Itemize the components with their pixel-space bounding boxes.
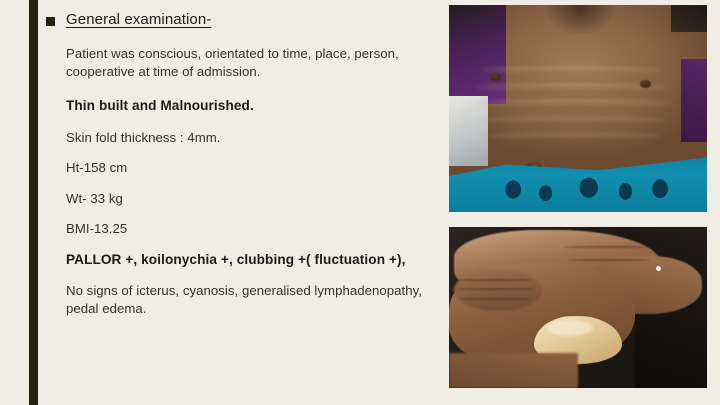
paragraph-pallor-findings: PALLOR +, koilonychia +, clubbing +( flu…	[46, 251, 428, 269]
left-accent-stripe	[29, 0, 38, 405]
clubbing-skin-crease	[459, 279, 531, 281]
page-title: General examination-	[66, 10, 428, 29]
torso-photo-canvas	[449, 5, 707, 212]
clubbing-photo-canvas	[449, 227, 707, 388]
paragraph-build: Thin built and Malnourished.	[46, 97, 428, 115]
clubbing-highlight-dot	[656, 266, 661, 271]
paragraph-negative-findings: No signs of icterus, cyanosis, generalis…	[46, 282, 428, 317]
paragraph-weight: Wt- 33 kg	[46, 190, 428, 208]
slide-canvas: General examination- Patient was conscio…	[0, 0, 720, 405]
heading-bullet-row: General examination-	[46, 10, 428, 29]
torso-neck-shadow	[547, 5, 614, 34]
paragraph-consciousness: Patient was conscious, orientated to tim…	[46, 45, 428, 80]
torso-rib-line	[475, 84, 666, 90]
clubbing-lower-finger	[449, 353, 578, 388]
torso-nipple-right	[640, 80, 651, 88]
content-column: General examination- Patient was conscio…	[46, 10, 428, 400]
torso-purple-cloth-left	[449, 5, 506, 104]
paragraph-skin-fold-thickness: Skin fold thickness : 4mm.	[46, 129, 428, 147]
torso-teal-cloth-pattern	[470, 171, 687, 208]
paragraph-height: Ht-158 cm	[46, 159, 428, 177]
clubbing-skin-crease	[459, 298, 531, 300]
torso-shadow-top-right	[671, 5, 707, 32]
clubbing-photo	[449, 227, 707, 388]
torso-photo	[449, 5, 707, 212]
paragraph-bmi: BMI-13.25	[46, 220, 428, 238]
torso-rib-line	[480, 117, 666, 123]
torso-purple-cloth-right	[681, 59, 707, 142]
torso-white-sheet	[449, 96, 488, 166]
square-bullet-icon	[46, 17, 55, 26]
